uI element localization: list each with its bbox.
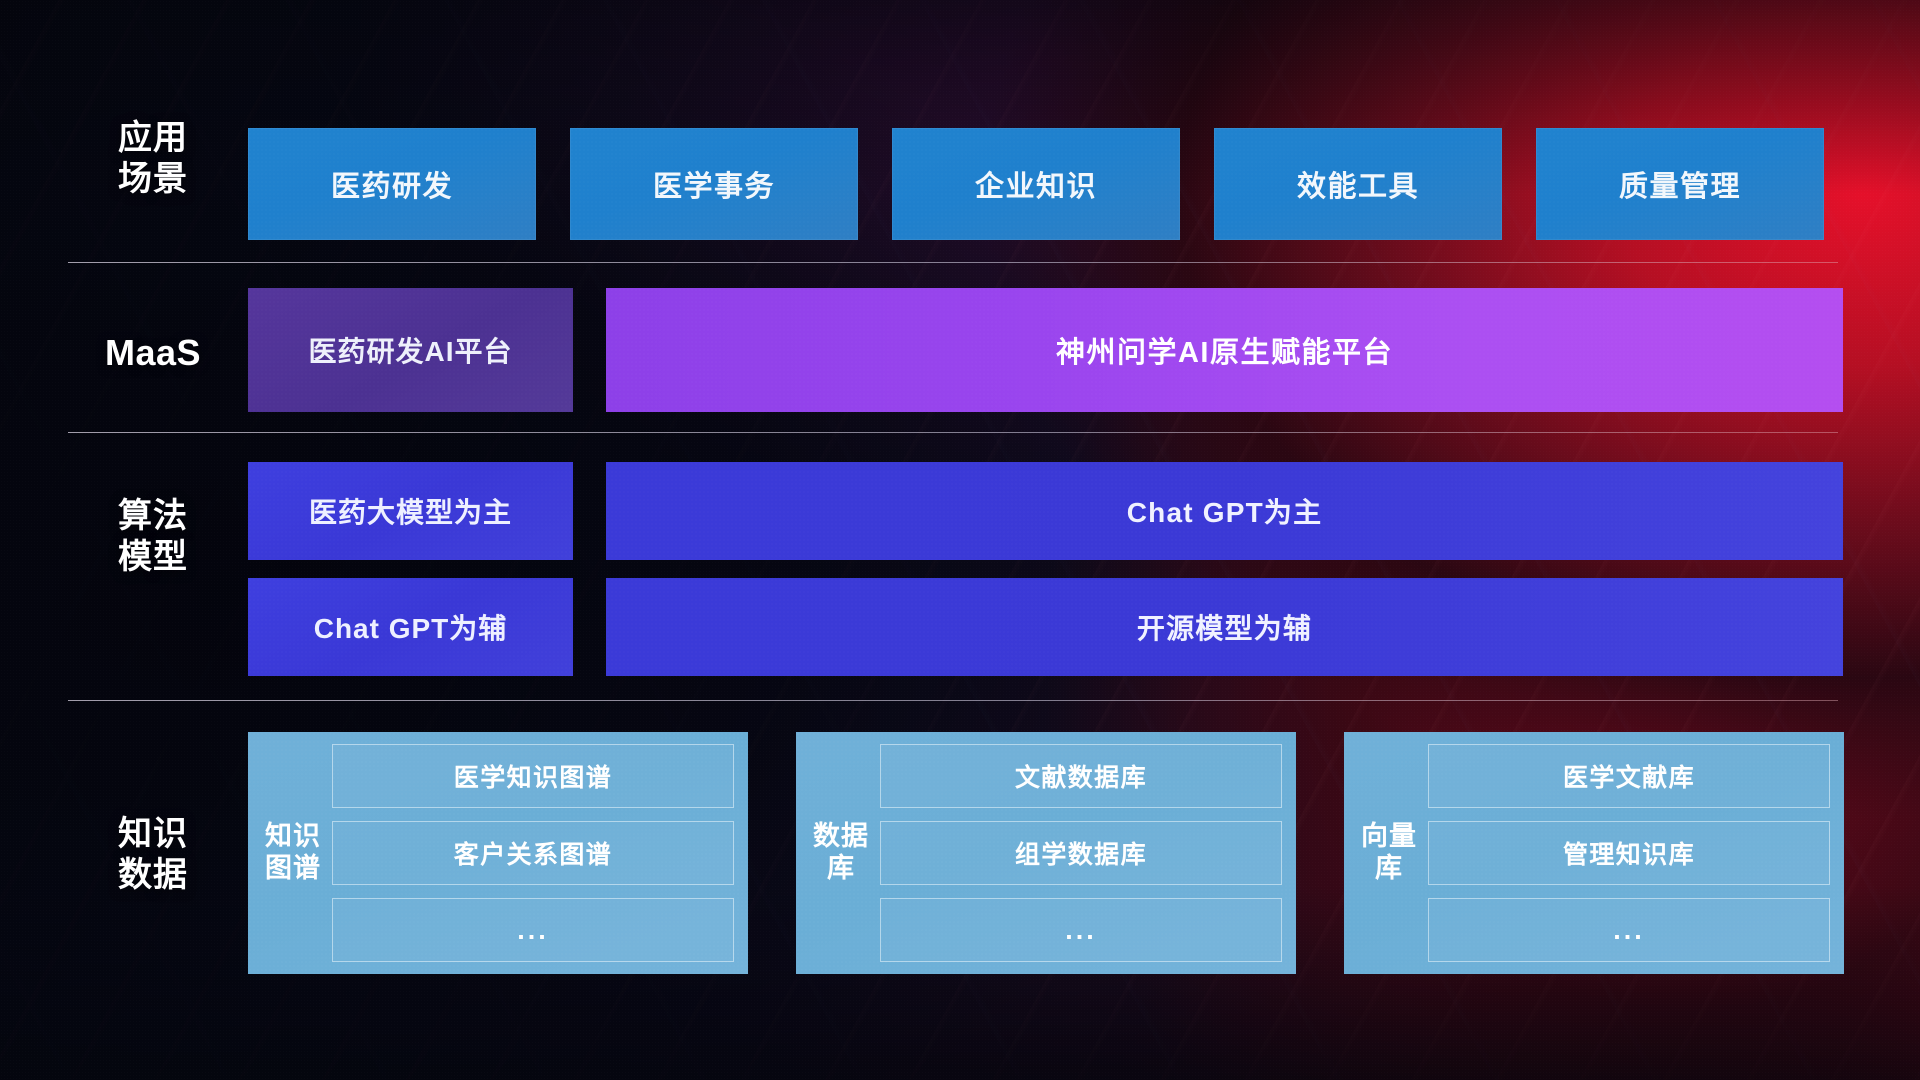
vector-item-more-ellipsis[interactable]: ... xyxy=(1428,898,1830,962)
panel-items-vector-store: 医学文献库 管理知识库 ... xyxy=(1422,744,1830,962)
knowledge-item-customer-relation-graph[interactable]: 客户关系图谱 xyxy=(332,821,734,885)
scene-box-quality-management[interactable]: 质量管理 xyxy=(1536,128,1824,240)
maas-box-medicine-rd-ai-platform[interactable]: 医药研发AI平台 xyxy=(248,288,573,412)
application-scenarios-row: 医药研发 医学事务 企业知识 效能工具 质量管理 xyxy=(248,128,1824,240)
row-label-line-2: 场景 xyxy=(68,159,238,200)
row-label-line-1: 知识 xyxy=(68,814,238,855)
database-item-more-ellipsis[interactable]: ... xyxy=(880,898,1282,962)
row-label-line-2: 数据 xyxy=(68,855,238,896)
row-label-knowledge-data: 知识 数据 xyxy=(68,814,238,897)
scene-box-efficiency-tools[interactable]: 效能工具 xyxy=(1214,128,1502,240)
row-label-algorithm-model: 算法 模型 xyxy=(68,496,238,579)
row-label-line-1: 应用 xyxy=(68,118,238,159)
scene-box-medical-affairs[interactable]: 医学事务 xyxy=(570,128,858,240)
row-label-line-1: 算法 xyxy=(68,496,238,537)
panel-items-knowledge-graph: 医学知识图谱 客户关系图谱 ... xyxy=(326,744,734,962)
algo-box-chatgpt-primary[interactable]: Chat GPT为主 xyxy=(606,462,1843,560)
panel-side-label-vector-store: 向量库 xyxy=(1356,744,1422,962)
divider-after-maas xyxy=(68,432,1838,433)
row-label-line-2: 模型 xyxy=(68,537,238,578)
knowledge-data-row: 知识图谱 医学知识图谱 客户关系图谱 ... 数据库 文献数据库 组学数据库 .… xyxy=(248,732,1844,974)
diagram-canvas: 应用 场景 医药研发 医学事务 企业知识 效能工具 质量管理 MaaS 医药研发… xyxy=(0,0,1920,1080)
algorithm-row-primary: 医药大模型为主 Chat GPT为主 xyxy=(248,462,1843,560)
panel-items-database: 文献数据库 组学数据库 ... xyxy=(874,744,1282,962)
panel-side-label-knowledge-graph: 知识图谱 xyxy=(260,744,326,962)
knowledge-panel-vector-store[interactable]: 向量库 医学文献库 管理知识库 ... xyxy=(1344,732,1844,974)
maas-row: 医药研发AI平台 神州问学AI原生赋能平台 xyxy=(248,288,1843,412)
divider-after-application-scenarios xyxy=(68,262,1838,263)
algo-box-medicine-large-model-primary[interactable]: 医药大模型为主 xyxy=(248,462,573,560)
algo-box-chatgpt-secondary[interactable]: Chat GPT为辅 xyxy=(248,578,573,676)
algo-box-opensource-model-secondary[interactable]: 开源模型为辅 xyxy=(606,578,1843,676)
knowledge-item-more-ellipsis[interactable]: ... xyxy=(332,898,734,962)
scene-box-enterprise-knowledge[interactable]: 企业知识 xyxy=(892,128,1180,240)
row-label-application-scenarios: 应用 场景 xyxy=(68,118,238,201)
vector-item-management-knowledge-store[interactable]: 管理知识库 xyxy=(1428,821,1830,885)
scene-box-medicine-rd[interactable]: 医药研发 xyxy=(248,128,536,240)
database-item-omics-database[interactable]: 组学数据库 xyxy=(880,821,1282,885)
algorithm-row-secondary: Chat GPT为辅 开源模型为辅 xyxy=(248,578,1843,676)
vector-item-medical-literature-store[interactable]: 医学文献库 xyxy=(1428,744,1830,808)
row-label-maas: MaaS xyxy=(68,331,238,375)
maas-box-shenzhou-wenxue-platform[interactable]: 神州问学AI原生赋能平台 xyxy=(606,288,1843,412)
knowledge-item-medical-knowledge-graph[interactable]: 医学知识图谱 xyxy=(332,744,734,808)
knowledge-panel-database[interactable]: 数据库 文献数据库 组学数据库 ... xyxy=(796,732,1296,974)
panel-side-label-database: 数据库 xyxy=(808,744,874,962)
divider-after-algorithm-model xyxy=(68,700,1838,701)
knowledge-panel-knowledge-graph[interactable]: 知识图谱 医学知识图谱 客户关系图谱 ... xyxy=(248,732,748,974)
database-item-literature-database[interactable]: 文献数据库 xyxy=(880,744,1282,808)
diagram-layers: 应用 场景 医药研发 医学事务 企业知识 效能工具 质量管理 MaaS 医药研发… xyxy=(0,0,1920,1080)
